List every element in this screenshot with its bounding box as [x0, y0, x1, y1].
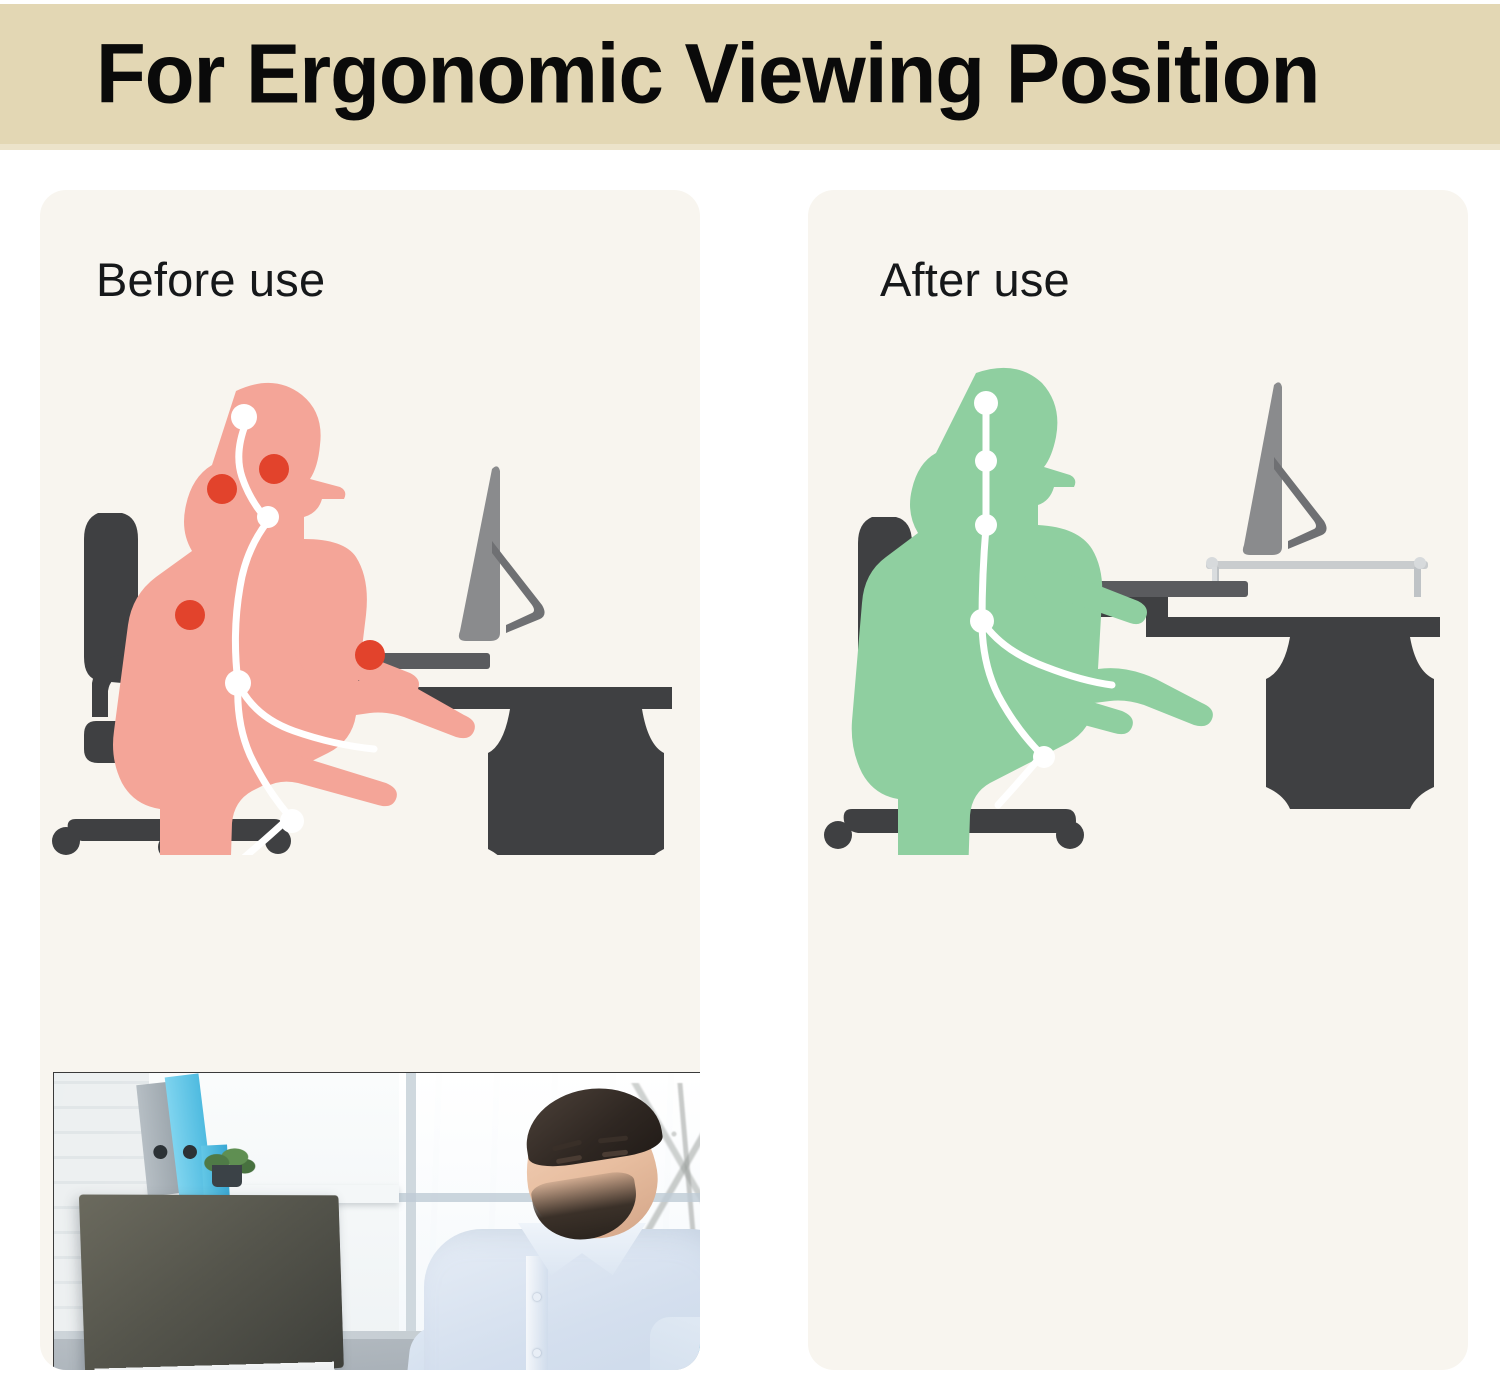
- page-title: For Ergonomic Viewing Position: [96, 26, 1319, 123]
- panel-before: Before use: [40, 190, 700, 1370]
- monitor-icon: [1243, 382, 1327, 555]
- panel-after-label: After use: [880, 252, 1070, 307]
- panel-before-label: Before use: [96, 252, 325, 307]
- photo-before-use: [53, 1072, 700, 1370]
- monitor-icon: [459, 466, 545, 641]
- header-banner: For Ergonomic Viewing Position: [0, 4, 1500, 150]
- hunched-figure-silhouette: [94, 383, 475, 855]
- panel-after: After use: [808, 190, 1468, 1370]
- monitor-screen: [79, 1194, 344, 1370]
- illustration-after-use: [808, 365, 1468, 855]
- person-with-back-pain: [406, 1081, 700, 1370]
- illustration-before-use: [40, 365, 700, 855]
